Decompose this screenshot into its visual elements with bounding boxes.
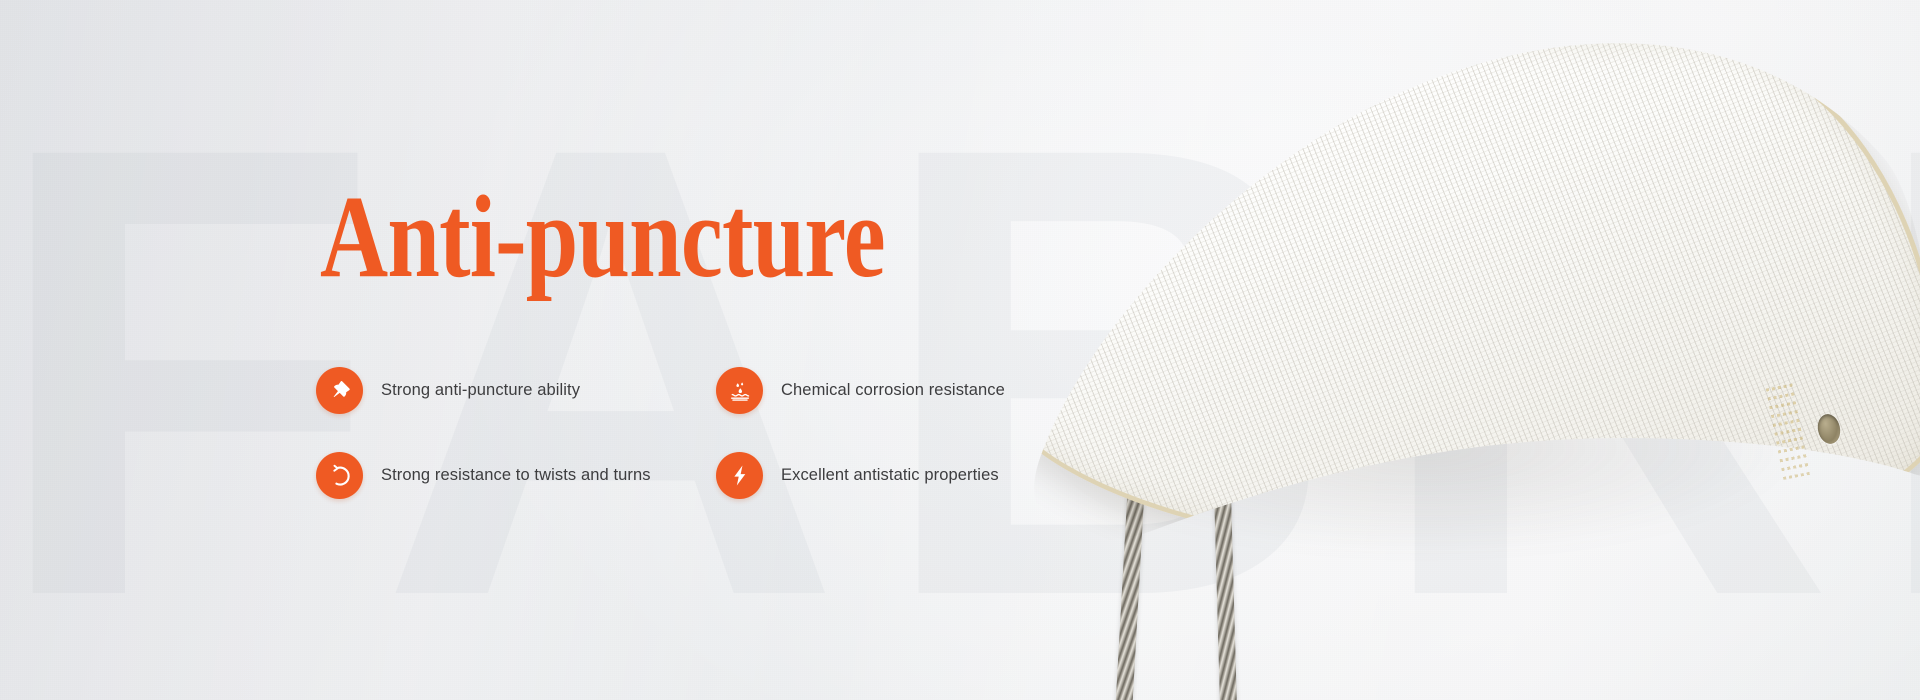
screw-tip-icon bbox=[1211, 374, 1229, 414]
screw-icon bbox=[1115, 350, 1153, 700]
plate-print-marking bbox=[1765, 380, 1813, 480]
product-photo bbox=[1020, 60, 1920, 700]
feature-item-chemical-resistance: Chemical corrosion resistance bbox=[716, 348, 1116, 433]
feature-label: Chemical corrosion resistance bbox=[781, 381, 1005, 400]
corrosion-droplets-icon bbox=[716, 367, 763, 414]
banner-content: Anti-puncture Strong anti-puncture abili… bbox=[0, 0, 1100, 700]
page-title: Anti-puncture bbox=[320, 178, 885, 296]
feature-label: Excellent antistatic properties bbox=[781, 466, 999, 485]
lightning-bolt-icon bbox=[716, 452, 763, 499]
puncture-hole-icon bbox=[1815, 412, 1843, 446]
feature-item-antistatic: Excellent antistatic properties bbox=[716, 433, 1116, 518]
woven-fabric-plate bbox=[984, 38, 1920, 558]
plate-drop-shadow bbox=[1044, 338, 1804, 558]
feature-label: Strong resistance to twists and turns bbox=[381, 466, 651, 485]
rotate-twist-icon bbox=[316, 452, 363, 499]
screw-icon bbox=[1212, 408, 1238, 700]
feature-label: Strong anti-puncture ability bbox=[381, 381, 580, 400]
feature-item-twist-resistance: Strong resistance to twists and turns bbox=[316, 433, 716, 518]
product-feature-banner: FABRIC Anti-puncture bbox=[0, 0, 1920, 700]
screw-tip-icon bbox=[1135, 316, 1154, 357]
midsole-plate bbox=[984, 38, 1920, 558]
pushpin-icon bbox=[316, 367, 363, 414]
feature-list: Strong anti-puncture ability bbox=[316, 348, 1056, 518]
feature-item-anti-puncture: Strong anti-puncture ability bbox=[316, 348, 716, 433]
